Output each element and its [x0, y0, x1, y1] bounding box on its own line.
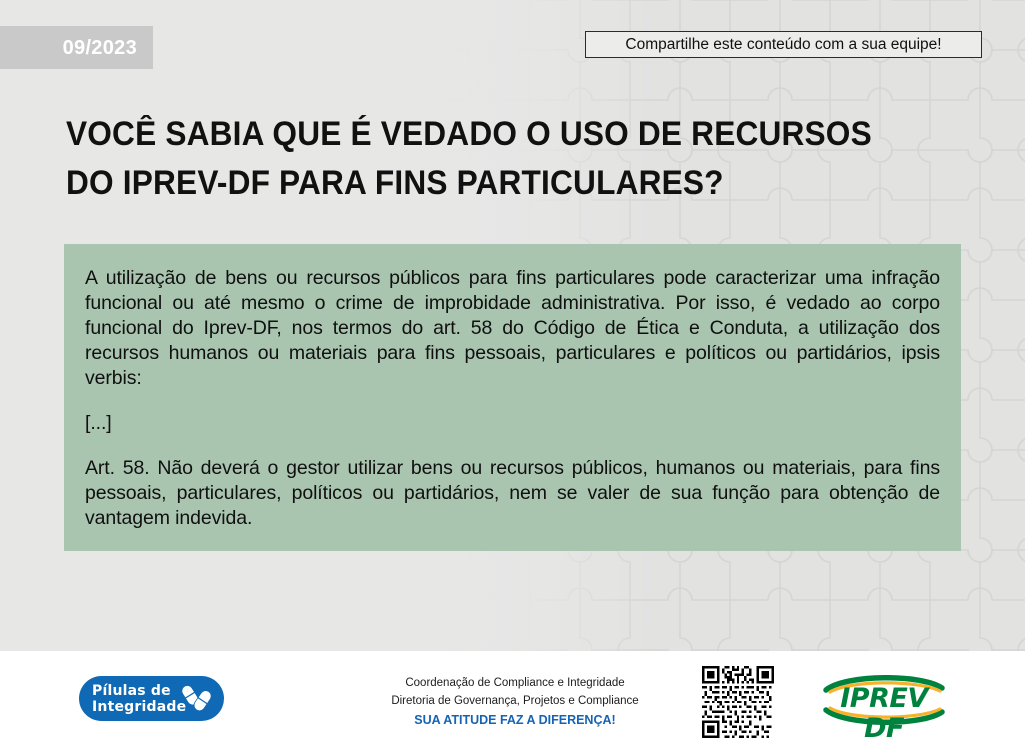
page-title-line-2: DO IPREV-DF PARA FINS PARTICULARES?: [66, 159, 884, 208]
qr-code-svg: [697, 666, 779, 738]
footer-credits: Coordenação de Compliance e Integridade …: [340, 674, 690, 730]
poster-canvas: 09/2023 Compartilhe este conteúdo com a …: [0, 0, 1025, 750]
share-banner-label: Compartilhe este conteúdo com a sua equi…: [625, 37, 941, 53]
iprev-df-logo: IPREV DF: [820, 672, 948, 728]
qr-code-icon[interactable]: [697, 666, 779, 738]
iprev-logo-label: IPREV DF: [820, 684, 948, 744]
pilulas-logo-line-1: Pílulas de: [92, 683, 186, 699]
footer-credits-line-2: Diretoria de Governança, Projetos e Comp…: [340, 692, 690, 710]
footer-slogan: SUA ATITUDE FAZ A DIFERENÇA!: [340, 710, 690, 730]
pilulas-de-integridade-logo: Pílulas de Integridade: [79, 676, 224, 721]
content-paragraph-1: A utilização de bens ou recursos público…: [85, 266, 940, 391]
pilulas-logo-text: Pílulas de Integridade: [92, 683, 186, 715]
page-title: VOCÊ SABIA QUE É VEDADO O USO DE RECURSO…: [66, 110, 884, 208]
date-badge: 09/2023: [0, 26, 153, 69]
date-badge-label: 09/2023: [63, 38, 137, 58]
content-paragraph-article: Art. 58. Não deverá o gestor utilizar be…: [85, 456, 940, 531]
share-banner[interactable]: Compartilhe este conteúdo com a sua equi…: [585, 31, 982, 58]
pills-icon: [181, 683, 213, 714]
page-title-line-1: VOCÊ SABIA QUE É VEDADO O USO DE RECURSO…: [66, 110, 884, 159]
pilulas-logo-line-2: Integridade: [92, 699, 186, 715]
content-paragraph-ellipsis: [...]: [85, 411, 940, 436]
content-card: A utilização de bens ou recursos público…: [64, 244, 961, 551]
footer-credits-line-1: Coordenação de Compliance e Integridade: [340, 674, 690, 692]
